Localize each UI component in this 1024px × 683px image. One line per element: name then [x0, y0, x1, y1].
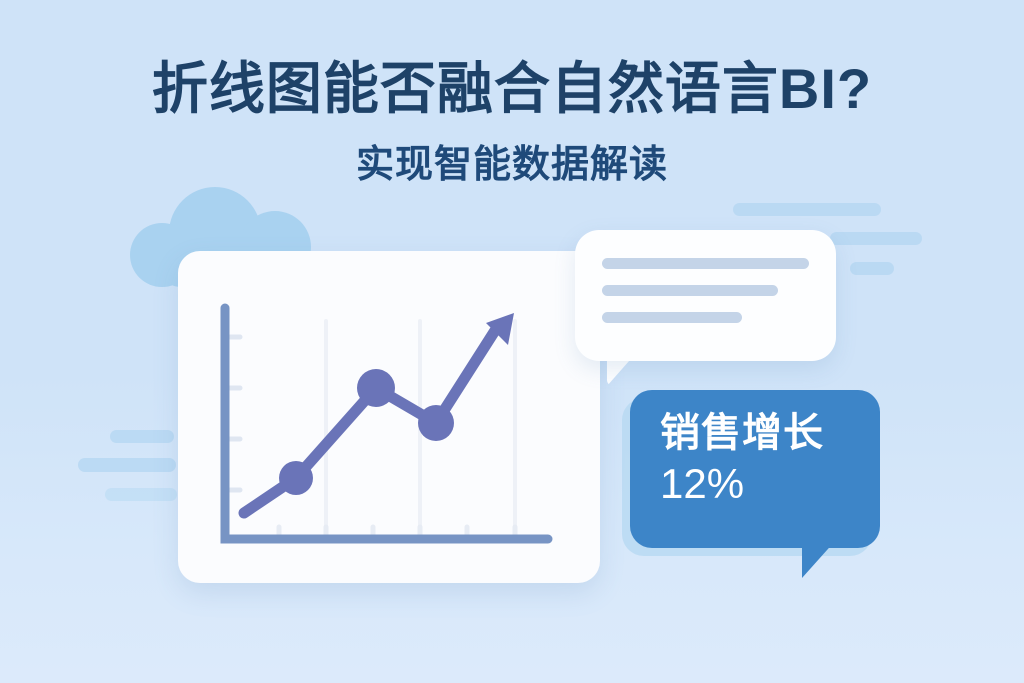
metric-value: 12% — [660, 461, 824, 506]
deco-bar-right-1 — [733, 203, 881, 216]
page-title: 折线图能否融合自然语言BI? — [0, 44, 1024, 125]
chart-card — [178, 251, 600, 583]
placeholder-line-1 — [602, 258, 809, 269]
speech-bubble-body — [575, 230, 836, 361]
placeholder-line-3 — [602, 312, 742, 323]
page-subtitle: 实现智能数据解读 — [0, 133, 1024, 188]
deco-bar-left-1 — [110, 430, 174, 443]
deco-bar-right-3 — [850, 262, 894, 275]
poster-canvas: 折线图能否融合自然语言BI? 实现智能数据解读 — [0, 0, 1024, 683]
speech-bubble — [575, 230, 836, 361]
placeholder-line-2 — [602, 285, 778, 296]
chart-y-ticks — [230, 337, 240, 490]
metric-label: 销售增长 — [660, 412, 824, 455]
chart-axes — [225, 308, 548, 539]
deco-bar-left-3 — [105, 488, 177, 501]
metric-callout-body: 销售增长 12% — [630, 390, 880, 548]
metric-callout-text: 销售增长 12% — [660, 412, 824, 507]
metric-callout: 销售增长 12% — [630, 390, 880, 548]
deco-bar-left-2 — [78, 458, 176, 472]
deco-bar-right-2 — [830, 232, 922, 245]
line-chart — [178, 251, 600, 583]
chart-markers — [279, 369, 454, 495]
